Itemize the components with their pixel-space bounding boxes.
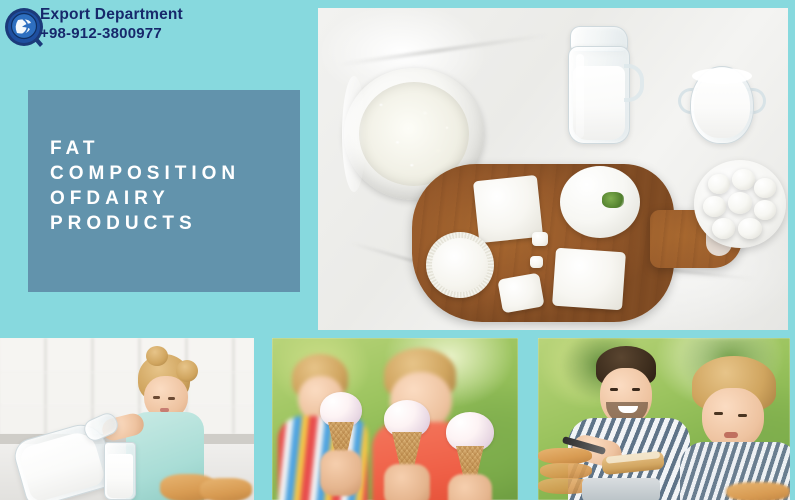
bread-roll bbox=[200, 478, 252, 500]
milk-glass bbox=[104, 442, 136, 500]
bread-foreground bbox=[726, 482, 790, 500]
page-title: FAT COMPOSITION OFDAIRY PRODUCTS bbox=[50, 136, 290, 236]
mozzarella-plate bbox=[694, 160, 786, 248]
title-card: FAT COMPOSITION OFDAIRY PRODUCTS bbox=[28, 90, 300, 292]
milk-glass-cup bbox=[674, 64, 770, 148]
photo-father-and-son-bread bbox=[538, 338, 790, 500]
ice-cream-cone bbox=[318, 392, 364, 496]
eye bbox=[610, 388, 618, 391]
wooden-cutting-board bbox=[412, 158, 742, 326]
feta-block bbox=[552, 248, 626, 311]
photo-girl-pouring-milk bbox=[0, 338, 254, 500]
eye bbox=[168, 397, 175, 400]
ice-cream-cone bbox=[382, 400, 432, 500]
photo-kids-ice-cream bbox=[272, 338, 518, 500]
cheese-crumb bbox=[532, 232, 548, 246]
eye bbox=[632, 388, 640, 391]
hair-bun bbox=[146, 346, 168, 366]
boy-face bbox=[702, 388, 764, 450]
cheese-crumb bbox=[497, 273, 544, 314]
table-surface bbox=[582, 478, 660, 500]
export-department-label: Export Department bbox=[40, 5, 183, 24]
ice-cream-cone bbox=[444, 412, 496, 500]
title-line-4: PRODUCTS bbox=[50, 211, 290, 236]
title-line-3: OFDAIRY bbox=[50, 186, 290, 211]
mouth bbox=[724, 432, 738, 438]
boy-figure bbox=[676, 356, 790, 500]
round-cheese bbox=[426, 232, 494, 298]
eye bbox=[153, 396, 160, 399]
milk-jug bbox=[564, 24, 636, 148]
brand-text-block: Export Department +98-912-3800977 bbox=[40, 5, 183, 43]
title-line-2: COMPOSITION bbox=[50, 161, 290, 186]
cheese-crumb bbox=[530, 256, 543, 268]
brand-header: Export Department +98-912-3800977 bbox=[0, 0, 320, 58]
photo-cheese-board bbox=[318, 8, 788, 330]
herb-garnish bbox=[602, 192, 624, 208]
eye bbox=[738, 414, 747, 417]
phone-number-label: +98-912-3800977 bbox=[40, 24, 183, 43]
title-line-1: FAT bbox=[50, 136, 290, 161]
mozzarella-ball bbox=[560, 166, 640, 238]
eye bbox=[714, 412, 723, 415]
